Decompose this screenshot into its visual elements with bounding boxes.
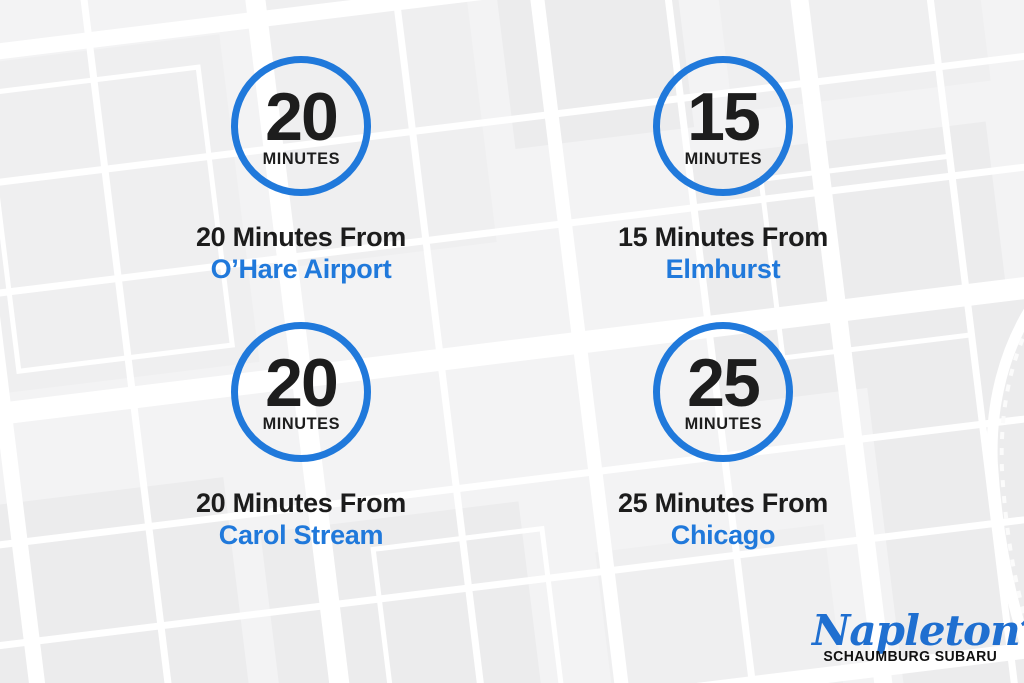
caption-location: O’Hare Airport (196, 254, 406, 284)
caption-location: Chicago (618, 520, 828, 550)
caption-location: Elmhurst (618, 254, 828, 284)
card-caption: 20 Minutes From O’Hare Airport (196, 222, 406, 284)
badge-unit-label: MINUTES (684, 415, 761, 432)
badge-number: 15 (687, 89, 759, 146)
badge-unit-label: MINUTES (262, 150, 339, 167)
badge-number: 20 (265, 355, 337, 412)
dealership-logo: Napleton’s SCHAUMBURG SUBARU (812, 611, 1002, 665)
drive-time-card: 20 MINUTES 20 Minutes From O’Hare Airpor… (90, 56, 512, 322)
minutes-badge: 20 MINUTES (231, 322, 371, 462)
minutes-badge: 25 MINUTES (653, 322, 793, 462)
drive-time-card: 25 MINUTES 25 Minutes From Chicago (512, 322, 934, 588)
caption-primary: 20 Minutes From (196, 222, 406, 252)
minutes-badge: 20 MINUTES (231, 56, 371, 196)
drive-time-grid: 20 MINUTES 20 Minutes From O’Hare Airpor… (0, 0, 1024, 683)
drive-time-card: 15 MINUTES 15 Minutes From Elmhurst (512, 56, 934, 322)
card-caption: 15 Minutes From Elmhurst (618, 222, 828, 284)
card-caption: 20 Minutes From Carol Stream (196, 488, 406, 550)
minutes-badge: 15 MINUTES (653, 56, 793, 196)
brand-subtitle: SCHAUMBURG SUBARU (815, 649, 999, 665)
caption-primary: 20 Minutes From (196, 488, 406, 518)
drive-times-graphic: 20 MINUTES 20 Minutes From O’Hare Airpor… (0, 0, 1024, 683)
card-caption: 25 Minutes From Chicago (618, 488, 828, 550)
caption-primary: 15 Minutes From (618, 222, 828, 252)
caption-primary: 25 Minutes From (618, 488, 828, 518)
drive-time-card: 20 MINUTES 20 Minutes From Carol Stream (90, 322, 512, 588)
brand-wordmark: Napleton’s (812, 611, 1002, 651)
badge-unit-label: MINUTES (262, 415, 339, 432)
badge-unit-label: MINUTES (684, 150, 761, 167)
badge-number: 20 (265, 89, 337, 146)
caption-location: Carol Stream (196, 520, 406, 550)
badge-number: 25 (687, 355, 759, 412)
